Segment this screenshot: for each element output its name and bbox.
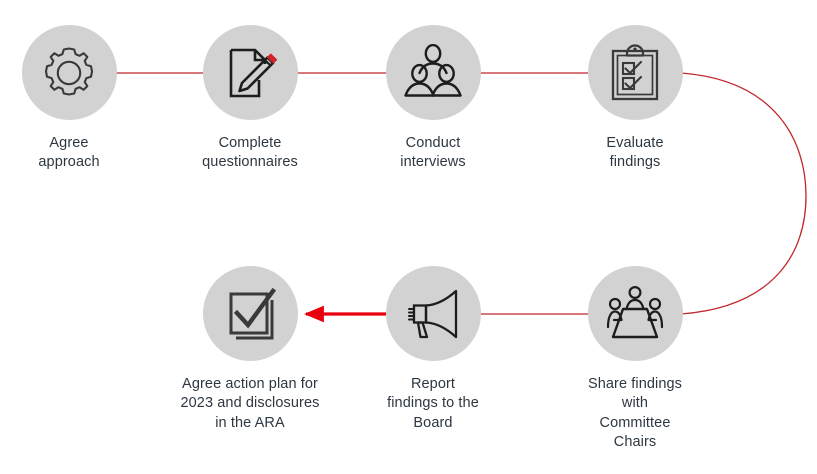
step-agree-approach[interactable]: Agree approach (0, 25, 149, 173)
step-icon-bubble-evaluate-findings[interactable] (588, 25, 683, 120)
step-icon-bubble-report-to-board[interactable] (386, 266, 481, 361)
step-label-agree-approach: Agree approach (0, 134, 149, 173)
step-icon-bubble-agree-approach[interactable] (22, 25, 117, 120)
process-flow-diagram: Agree approach Complete questionnaires (0, 0, 817, 474)
step-complete-questionnaires[interactable]: Complete questionnaires (170, 25, 330, 173)
step-label-share-findings: Share findings with Committee Chairs (555, 375, 715, 452)
megaphone-icon (402, 286, 464, 342)
checkbox-tick-icon (220, 284, 280, 344)
step-agree-action-plan[interactable]: Agree action plan for 2023 and disclosur… (170, 266, 330, 433)
step-evaluate-findings[interactable]: Evaluate findings (555, 25, 715, 173)
step-icon-bubble-share-findings[interactable] (588, 266, 683, 361)
step-label-evaluate-findings: Evaluate findings (555, 134, 715, 173)
step-conduct-interviews[interactable]: Conduct interviews (353, 25, 513, 173)
step-label-complete-questionnaires: Complete questionnaires (170, 134, 330, 173)
step-report-to-board[interactable]: Report findings to the Board (353, 266, 513, 433)
step-label-report-to-board: Report findings to the Board (353, 375, 513, 433)
step-label-agree-action-plan: Agree action plan for 2023 and disclosur… (170, 375, 330, 433)
people-group-icon (403, 44, 463, 102)
clipboard-checklist-icon (608, 43, 662, 103)
step-label-conduct-interviews: Conduct interviews (353, 134, 513, 173)
document-pencil-icon (221, 44, 279, 102)
step-icon-bubble-conduct-interviews[interactable] (386, 25, 481, 120)
meeting-table-icon (604, 285, 666, 343)
gear-icon (39, 43, 99, 103)
step-share-findings[interactable]: Share findings with Committee Chairs (555, 266, 715, 452)
step-icon-bubble-agree-action-plan[interactable] (203, 266, 298, 361)
step-icon-bubble-complete-questionnaires[interactable] (203, 25, 298, 120)
